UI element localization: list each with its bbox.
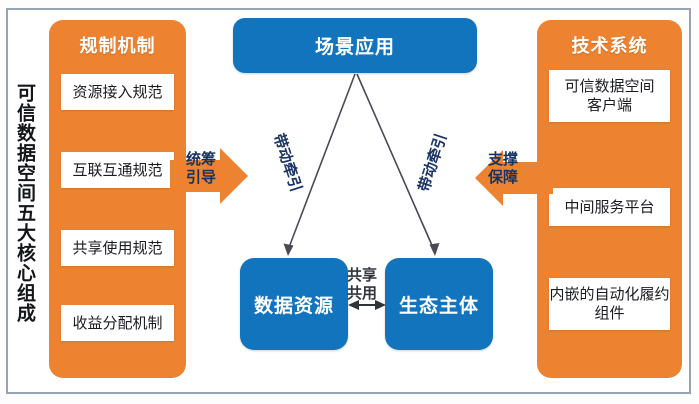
panel-tech-system-title: 技术系统 <box>537 32 682 58</box>
chip-right-2[interactable]: 中间服务平台 <box>549 188 670 226</box>
node-data-resource[interactable]: 数据资源 <box>240 258 348 350</box>
node-scene-application[interactable]: 场景应用 <box>233 18 477 73</box>
chip-left-4[interactable]: 收益分配机制 <box>61 305 174 341</box>
label-coordination: 统筹引导 <box>186 150 216 186</box>
chip-left-1[interactable]: 资源接入规范 <box>61 74 174 110</box>
side-label: 可信数据空间五大核心组成 <box>10 58 40 348</box>
label-share: 共享共用 <box>347 266 377 302</box>
chip-left-2[interactable]: 互联互通规范 <box>61 152 174 188</box>
chip-right-3[interactable]: 内嵌的自动化履约组件 <box>549 278 670 330</box>
chip-right-1[interactable]: 可信数据空间客户端 <box>549 70 670 122</box>
diagram-canvas: 可信数据空间五大核心组成 规制机制 资源接入规范 互联互通规范 共享使用规范 收… <box>0 0 699 404</box>
panel-regulation: 规制机制 资源接入规范 互联互通规范 共享使用规范 收益分配机制 <box>49 20 186 378</box>
label-support: 支撑保障 <box>488 150 518 186</box>
chip-left-3[interactable]: 共享使用规范 <box>61 230 174 266</box>
node-ecosystem-entity[interactable]: 生态主体 <box>385 258 493 350</box>
panel-regulation-title: 规制机制 <box>49 32 186 58</box>
panel-tech-system: 技术系统 可信数据空间客户端 中间服务平台 内嵌的自动化履约组件 <box>537 20 682 378</box>
